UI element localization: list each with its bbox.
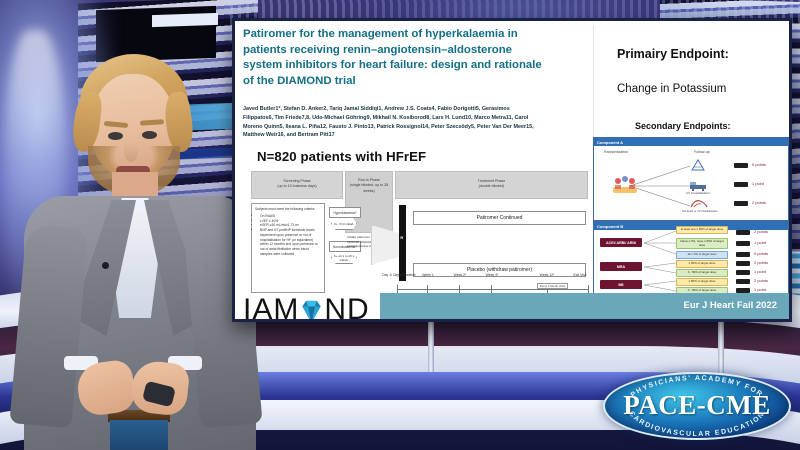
diamond-logo-right: ND <box>324 293 369 322</box>
dose-rule: all = 0% of target dose <box>676 251 728 259</box>
criteria-heading: Subjects must meet the following criteri… <box>255 207 321 212</box>
dose-rule: below ≥ 0%, none ≥ 50% of target dose <box>676 238 728 249</box>
component-a-footnote: Not death or CV hospitalisation <box>682 210 718 213</box>
score-marker <box>736 279 750 284</box>
presenter-jeans <box>110 420 168 450</box>
treatment-arm-patiromer: Patiromer Continued <box>413 211 586 225</box>
component-a-score: 2 points <box>752 200 766 205</box>
study-design-diagram: Screening Phase (up to 10 business days)… <box>247 171 592 299</box>
component-a-outcome-label: CV hospitalisation <box>686 191 710 195</box>
secondary-endpoints-title: Secondary Endpoints: <box>635 121 731 131</box>
presenter-eye-left <box>108 132 123 140</box>
randomisation-funnel <box>371 225 401 265</box>
lapel-microphone <box>102 262 109 269</box>
dose-rule-score: 2 points <box>754 229 768 234</box>
score-marker <box>734 201 748 206</box>
timeline-label: Exit Visit <box>574 273 587 277</box>
timeline-label: Week 12* <box>540 273 555 277</box>
paper-title: Patiromer for the management of hyperkal… <box>243 27 543 90</box>
phase-screening-sub: (up to 10 business days) <box>252 184 342 189</box>
timeline-visit-note: Every 4 Month Visits <box>537 283 568 289</box>
component-a-panel: Component A Randomization Follow-up <box>593 137 789 221</box>
slide-footer-bar: Eur J Heart Fail 2022 <box>380 293 789 319</box>
decision-criterion-k-range: K+ ≥4.1 to ≤5.1 mEq/L <box>331 251 357 264</box>
score-marker <box>736 241 750 246</box>
component-a-score: 0 points <box>752 162 766 167</box>
treatment-arm-placebo: Placebo (withdraw patiromer) <box>413 263 586 277</box>
decision-hyperkalaemia: Hyperkalaemia? <box>329 207 361 218</box>
timeline-label: Day 1/ Day 0 Baseline <box>382 273 416 277</box>
diamond-logo-left: IAM <box>243 293 299 322</box>
dose-rule-score: 1 point <box>754 287 766 292</box>
slide-citation: Eur J Heart Fail 2022 <box>684 300 777 311</box>
ecg-monitor-icon <box>690 158 706 177</box>
dose-rule-score: 0 points <box>754 251 768 256</box>
score-marker <box>736 230 750 235</box>
timeline-label: Week 4* <box>486 273 499 277</box>
decision-criterion-k-high: K+ >5.0 mEq/L <box>331 217 357 230</box>
score-marker <box>736 261 750 266</box>
dose-rule: at least one ≥ 50% of target dose <box>676 226 728 234</box>
phase-treatment: Treatment Phase (double blinded) <box>395 171 588 199</box>
phase-treatment-sub: (double blinded) <box>396 184 587 189</box>
component-b-panel: Component B ACEi/ ARBi/ ARNi MRA BB at l… <box>593 221 789 297</box>
presentation-slide[interactable]: Patiromer for the management of hyperkal… <box>232 18 792 322</box>
diamond-trial-logo: IAMND <box>243 293 370 322</box>
pace-cme-wordmark: PACE-CME <box>603 390 791 421</box>
diamond-gem-icon <box>300 299 323 322</box>
criteria-item: BNP and NT-proBNP threshold levels depen… <box>260 228 321 257</box>
presenter-person <box>16 0 266 450</box>
study-population-headline: N=820 patients with HFrEF <box>257 149 426 164</box>
timeline-label: Week 2* <box>454 273 467 277</box>
dose-rule: ≥ 50% of target dose <box>676 260 728 268</box>
desk-post <box>718 320 724 376</box>
presenter-eye-right <box>142 131 157 139</box>
patient-group-icon <box>610 174 640 201</box>
phase-screening: Screening Phase (up to 10 business days) <box>251 171 343 199</box>
score-marker <box>734 182 748 187</box>
paper-authors: Javed Butler1*, Stefan D. Anker2, Tariq … <box>243 105 535 140</box>
randomisation-label: R <box>400 235 403 240</box>
inclusion-criteria-box: Subjects must meet the following criteri… <box>251 203 325 293</box>
score-marker <box>736 270 750 275</box>
dose-rule-score: 1 point <box>754 240 766 245</box>
dose-rule: 0 - 50% of target dose <box>676 269 728 277</box>
score-marker <box>736 252 750 257</box>
dose-rule-score: 2 points <box>754 278 768 283</box>
dose-rule: ≥ 50% of target dose <box>676 278 728 286</box>
phase-runin-sub: (single blinded, up to 35 weeks) <box>346 183 392 194</box>
dose-rule-score: 1 point <box>754 269 766 274</box>
component-a-score: 1 point <box>752 181 764 186</box>
study-timeline-axis: Day 1/ Day 0 Baseline Week 1 Week 2* Wee… <box>397 289 589 290</box>
primary-endpoint-text: Change in Potassium <box>617 83 726 95</box>
score-marker <box>734 163 748 168</box>
dose-rule-score: 2 points <box>754 260 768 265</box>
primary-endpoint-title: Primairy Endpoint: <box>617 47 729 61</box>
randomisation-bar: R <box>399 205 406 281</box>
pace-cme-logo: PHYSICIANS' ACADEMY FOR CARDIOVASCULAR E… <box>603 372 791 440</box>
timeline-label: Week 1 <box>422 273 433 277</box>
